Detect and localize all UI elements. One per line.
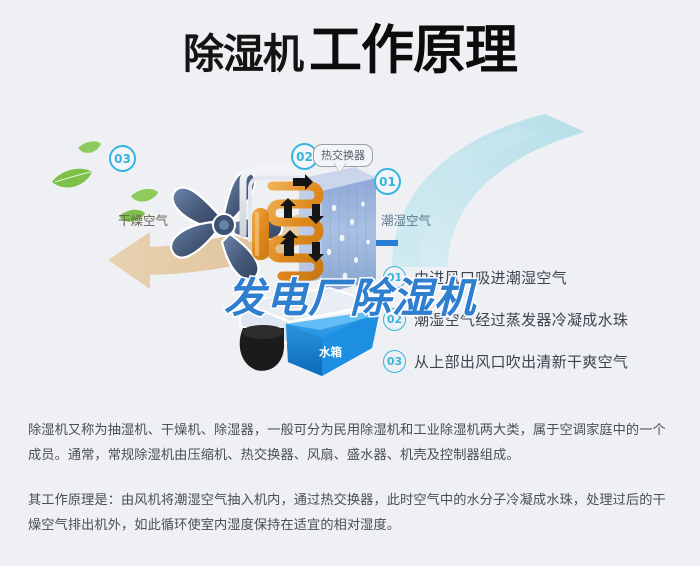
label-moist-air: 潮湿空气 (381, 210, 431, 229)
body-paragraph-2: 其工作原理是：由风机将潮湿空气抽入机内，通过热交换器，此时空气中的水分子冷凝成水… (28, 488, 676, 538)
infographic-page: 除湿机工作原理 (0, 0, 700, 566)
diagram-badge-03: 03 (109, 145, 136, 172)
dehumidifier-diagram: 03 01 02 热交换器 干燥空气 潮湿空气 水箱 01 由进风口吸进潮湿空气… (0, 112, 700, 397)
legend-text-03: 从上部出风口吹出清新干爽空气 (414, 351, 628, 372)
legend-item-02: 02 潮湿空气经过蒸发器冷凝成水珠 (383, 308, 683, 330)
body-paragraph-1: 除湿机又称为抽湿机、干燥机、除湿器，一般可分为民用除湿机和工业除湿机两大类，属于… (28, 418, 676, 468)
legend-badge-02: 02 (383, 308, 406, 331)
body-copy: 除湿机又称为抽湿机、干燥机、除湿器，一般可分为民用除湿机和工业除湿机两大类，属于… (28, 418, 676, 558)
legend-text-01: 由进风口吸进潮湿空气 (414, 267, 567, 288)
page-title-part1: 除湿机 (183, 30, 303, 78)
legend-item-03: 03 从上部出风口吹出清新干爽空气 (383, 350, 683, 372)
diagram-badge-01: 01 (374, 168, 401, 195)
legend-badge-03: 03 (383, 350, 406, 373)
label-dry-air: 干燥空气 (118, 210, 168, 229)
callout-tail-icon (334, 162, 346, 173)
legend-item-01: 01 由进风口吸进潮湿空气 (383, 266, 683, 288)
legend-text-02: 潮湿空气经过蒸发器冷凝成水珠 (414, 309, 628, 330)
legend-badge-01: 01 (383, 266, 406, 289)
page-title: 除湿机工作原理 (0, 24, 700, 77)
legend-list: 01 由进风口吸进潮湿空气 02 潮湿空气经过蒸发器冷凝成水珠 03 从上部出风… (383, 266, 683, 392)
label-water-tank: 水箱 (319, 344, 342, 360)
page-title-part2: 工作原理 (309, 20, 517, 81)
